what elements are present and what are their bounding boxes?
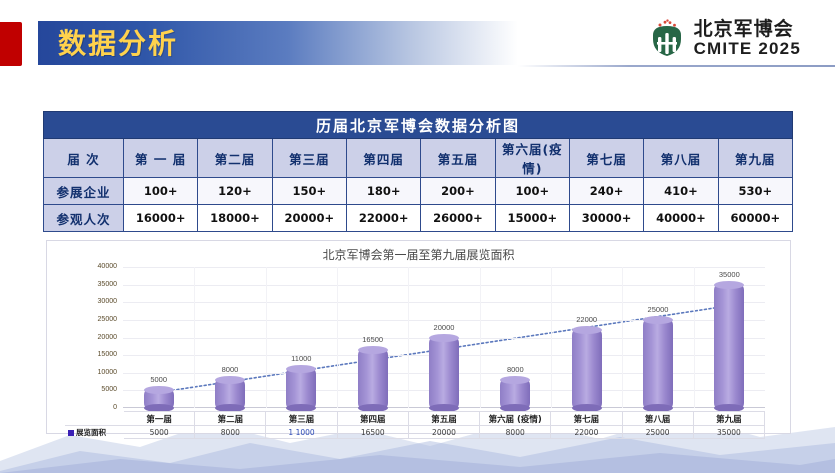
- chart-column-separator: [694, 267, 695, 408]
- chart-panel: 北京军博会第一届至第九届展览面积 05000100001500020000250…: [46, 240, 791, 434]
- chart-table-value: 8000: [480, 426, 551, 439]
- y-axis-tick-label: 25000: [73, 316, 117, 323]
- table-header-cell: 届 次: [44, 139, 124, 178]
- chart-category-label: 第五届: [408, 412, 479, 426]
- y-axis-tick-label: 15000: [73, 351, 117, 358]
- table-header-cell: 第二届: [198, 139, 272, 178]
- chart-table-corner: [66, 412, 124, 426]
- table-cell: 40000+: [644, 205, 718, 232]
- cmite-logo-icon: [647, 18, 687, 60]
- chart-table-value: 5000: [124, 426, 195, 439]
- chart-bar[interactable]: [144, 390, 174, 408]
- chart-category-label: 第四届: [337, 412, 408, 426]
- logo-name-en: CMITE 2025: [694, 40, 801, 58]
- logo-name-cn: 北京军博会: [694, 20, 801, 40]
- chart-category-label: 第三届: [266, 412, 337, 426]
- chart-category-label: 第一届: [124, 412, 195, 426]
- table-cell: 20000+: [272, 205, 346, 232]
- chart-column-separator: [551, 267, 552, 408]
- chart-bar[interactable]: [714, 285, 744, 408]
- table-cell: 60000+: [718, 205, 792, 232]
- chart-title: 北京军博会第一届至第九届展览面积: [47, 246, 790, 263]
- table-cell: 22000+: [346, 205, 420, 232]
- header-divider: [518, 65, 835, 67]
- table-title-row: 历届北京军博会数据分析图: [44, 112, 793, 139]
- table-header-cell: 第六届(疫情): [495, 139, 569, 178]
- chart-bar-cell: 25000: [622, 267, 693, 408]
- table-row: 参观人次 16000+ 18000+ 20000+ 22000+ 26000+ …: [44, 205, 793, 232]
- chart-table-value: 8000: [195, 426, 266, 439]
- chart-data-label: 20000: [434, 323, 455, 332]
- chart-bar-cell: 5000: [123, 267, 194, 408]
- chart-column-separator: [266, 267, 267, 408]
- table-header-cell: 第七届: [569, 139, 643, 178]
- chart-table-value: 20000: [408, 426, 479, 439]
- table-cell: 120+: [198, 178, 272, 205]
- table-cell: 410+: [644, 178, 718, 205]
- chart-data-label: 35000: [719, 270, 740, 279]
- chart-bar-cell: 16500: [337, 267, 408, 408]
- chart-bar[interactable]: [358, 350, 388, 408]
- chart-bar-cell: 20000: [408, 267, 479, 408]
- data-table: 历届北京军博会数据分析图 届 次 第 一 届 第二届 第三届 第四届 第五届 第…: [43, 111, 793, 232]
- y-axis-tick-label: 5000: [73, 386, 117, 393]
- y-axis-tick-label: 30000: [73, 298, 117, 305]
- table-header-cell: 第八届: [644, 139, 718, 178]
- chart-column-separator: [480, 267, 481, 408]
- chart-data-label: 22000: [576, 315, 597, 324]
- table-header-cell: 第三届: [272, 139, 346, 178]
- chart-bar[interactable]: [643, 320, 673, 408]
- table-cell: 16000+: [124, 205, 198, 232]
- row-label: 参观人次: [44, 205, 124, 232]
- table-cell: 240+: [569, 178, 643, 205]
- table-header-cell: 第九届: [718, 139, 792, 178]
- chart-data-label: 11000: [291, 354, 311, 363]
- chart-plot-area: 0500010000150002000025000300003500040000…: [123, 267, 765, 408]
- chart-bar-cell: 8000: [194, 267, 265, 408]
- table-header-cell: 第四届: [346, 139, 420, 178]
- chart-category-label: 第九届: [693, 412, 764, 426]
- table-cell: 18000+: [198, 205, 272, 232]
- legend-swatch: [68, 430, 74, 436]
- header-red-accent: [0, 22, 22, 66]
- chart-table-value: 25000: [622, 426, 693, 439]
- chart-category-label: 第八届: [622, 412, 693, 426]
- y-axis-tick-label: 20000: [73, 334, 117, 341]
- chart-data-table: 第一届第二届第三届第四届第五届第六届 (疫情)第七届第八届第九届 展览面积500…: [65, 411, 765, 439]
- chart-data-label: 8000: [507, 365, 524, 374]
- chart-bar-cell: 22000: [551, 267, 622, 408]
- chart-data-label: 16500: [362, 335, 383, 344]
- chart-legend[interactable]: 展览面积: [66, 426, 124, 439]
- table-title: 历届北京军博会数据分析图: [44, 112, 793, 139]
- row-label: 参展企业: [44, 178, 124, 205]
- table-cell: 180+: [346, 178, 420, 205]
- chart-column-separator: [622, 267, 623, 408]
- table-header-row: 届 次 第 一 届 第二届 第三届 第四届 第五届 第六届(疫情) 第七届 第八…: [44, 139, 793, 178]
- chart-table-value: 35000: [693, 426, 764, 439]
- chart-category-label: 第二届: [195, 412, 266, 426]
- chart-table-value-row: 展览面积500080001 10001650020000800022000250…: [66, 426, 765, 439]
- y-axis-tick-label: 35000: [73, 281, 117, 288]
- chart-bar[interactable]: [429, 338, 459, 409]
- table-cell: 100+: [124, 178, 198, 205]
- table-cell: 150+: [272, 178, 346, 205]
- chart-data-label: 5000: [150, 375, 167, 384]
- logo-text: 北京军博会 CMITE 2025: [694, 20, 801, 58]
- chart-bar[interactable]: [286, 369, 316, 408]
- chart-category-label: 第六届 (疫情): [480, 412, 551, 426]
- chart-bar[interactable]: [500, 380, 530, 408]
- slide-header: 数据分析: [0, 0, 835, 80]
- chart-column-separator: [194, 267, 195, 408]
- chart-legend-label: 展览面积: [76, 428, 106, 437]
- chart-category-label: 第七届: [551, 412, 622, 426]
- chart-bar-cell: 35000: [694, 267, 765, 408]
- chart-bar-cell: 8000: [480, 267, 551, 408]
- y-axis-tick-label: 0: [73, 404, 117, 411]
- chart-column-separator: [408, 267, 409, 408]
- chart-data-label: 25000: [648, 305, 669, 314]
- table-cell: 100+: [495, 178, 569, 205]
- chart-bar[interactable]: [572, 330, 602, 408]
- table-cell: 15000+: [495, 205, 569, 232]
- y-axis-tick-label: 10000: [73, 369, 117, 376]
- chart-table-value: 1 1000: [266, 426, 337, 439]
- table-header-cell: 第五届: [421, 139, 495, 178]
- table-cell: 26000+: [421, 205, 495, 232]
- chart-data-label: 8000: [222, 365, 239, 374]
- table-cell: 30000+: [569, 205, 643, 232]
- table-cell: 200+: [421, 178, 495, 205]
- page-title: 数据分析: [58, 25, 358, 63]
- table-row: 参展企业 100+ 120+ 150+ 180+ 200+ 100+ 240+ …: [44, 178, 793, 205]
- chart-table-value: 22000: [551, 426, 622, 439]
- y-axis-tick-label: 40000: [73, 263, 117, 270]
- chart-bar-cell: 11000: [266, 267, 337, 408]
- chart-column-separator: [337, 267, 338, 408]
- table-header-cell: 第 一 届: [124, 139, 198, 178]
- chart-bar[interactable]: [215, 380, 245, 408]
- chart-table-value: 16500: [337, 426, 408, 439]
- data-table-container: 历届北京军博会数据分析图 届 次 第 一 届 第二届 第三届 第四届 第五届 第…: [43, 111, 793, 232]
- table-cell: 530+: [718, 178, 792, 205]
- data-table-body: 历届北京军博会数据分析图 届 次 第 一 届 第二届 第三届 第四届 第五届 第…: [44, 112, 793, 232]
- chart-table-category-row: 第一届第二届第三届第四届第五届第六届 (疫情)第七届第八届第九届: [66, 412, 765, 426]
- brand-logo: 北京军博会 CMITE 2025: [647, 16, 801, 62]
